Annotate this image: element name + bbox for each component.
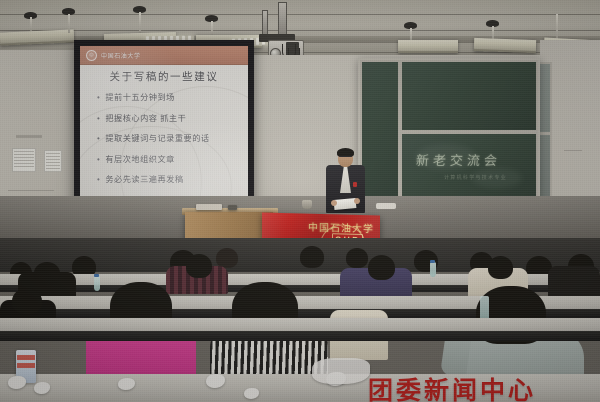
bullet-icon: • [97,114,100,123]
bullet-icon: • [97,93,100,102]
slide-org-name: 中国石油大学 [101,51,141,60]
blackboard-chalk-title: 新老交流会 [415,150,501,169]
blackboard-chalk-subtitle: 计算机科学与技术专业 [444,174,507,181]
slide-bullet-text: 务必先读三遍再发稿 [105,173,183,185]
stage-cup [302,200,312,209]
slide-bullet-text: 提前十五分钟到场 [105,91,175,103]
water-bottle [430,262,436,277]
lectern-object [228,205,237,210]
slide-bullet-list: • 提前十五分钟到场 • 把握核心内容 抓主干 • 提取关键词与记录重要的话 •… [97,91,238,206]
bullet-icon: • [97,175,100,184]
news-center-watermark: 团委新闻中心 [368,371,536,402]
plastic-bag [312,358,370,384]
slide-title: 关于写稿的一些建议 [80,69,248,84]
slide-bullet: • 提取关键词与记录重要的话 [97,132,238,144]
presenter-papers [334,198,357,210]
slide-bullet: • 务必先读三遍再发稿 [97,173,238,185]
lecture-hall-photo: ◎ 中国石油大学 关于写稿的一些建议 • 提前十五分钟到场 • 把握核心内容 抓… [0,0,600,402]
glasses-icon [339,156,352,160]
wall-notice-1 [12,148,36,172]
presenter-badge [353,182,357,187]
attendee-dark-right [548,266,600,298]
slide-bullet: • 提前十五分钟到场 [97,91,238,103]
bullet-icon: • [97,134,100,143]
bullet-icon: • [97,155,100,164]
university-seal-icon: ◎ [86,50,97,61]
blackboard: 新老交流会 计算机科学与技术专业 [358,58,540,206]
lectern-paper [196,204,222,210]
slide-bullet-text: 有层次地组织文章 [105,153,175,165]
wall-notice-2 [44,150,62,172]
slide-bullet-text: 提取关键词与记录重要的话 [105,132,209,144]
slide-bullet: • 有层次地组织文章 [97,153,238,165]
stage-paper-stack [376,203,396,209]
water-bottle [94,276,100,291]
slide-bullet-text: 把握核心内容 抓主干 [105,112,186,124]
projection-screen: ◎ 中国石油大学 关于写稿的一些建议 • 提前十五分钟到场 • 把握核心内容 抓… [74,40,254,222]
slide-bullet: • 把握核心内容 抓主干 [97,112,238,124]
slide-header-band: ◎ 中国石油大学 [80,46,248,65]
